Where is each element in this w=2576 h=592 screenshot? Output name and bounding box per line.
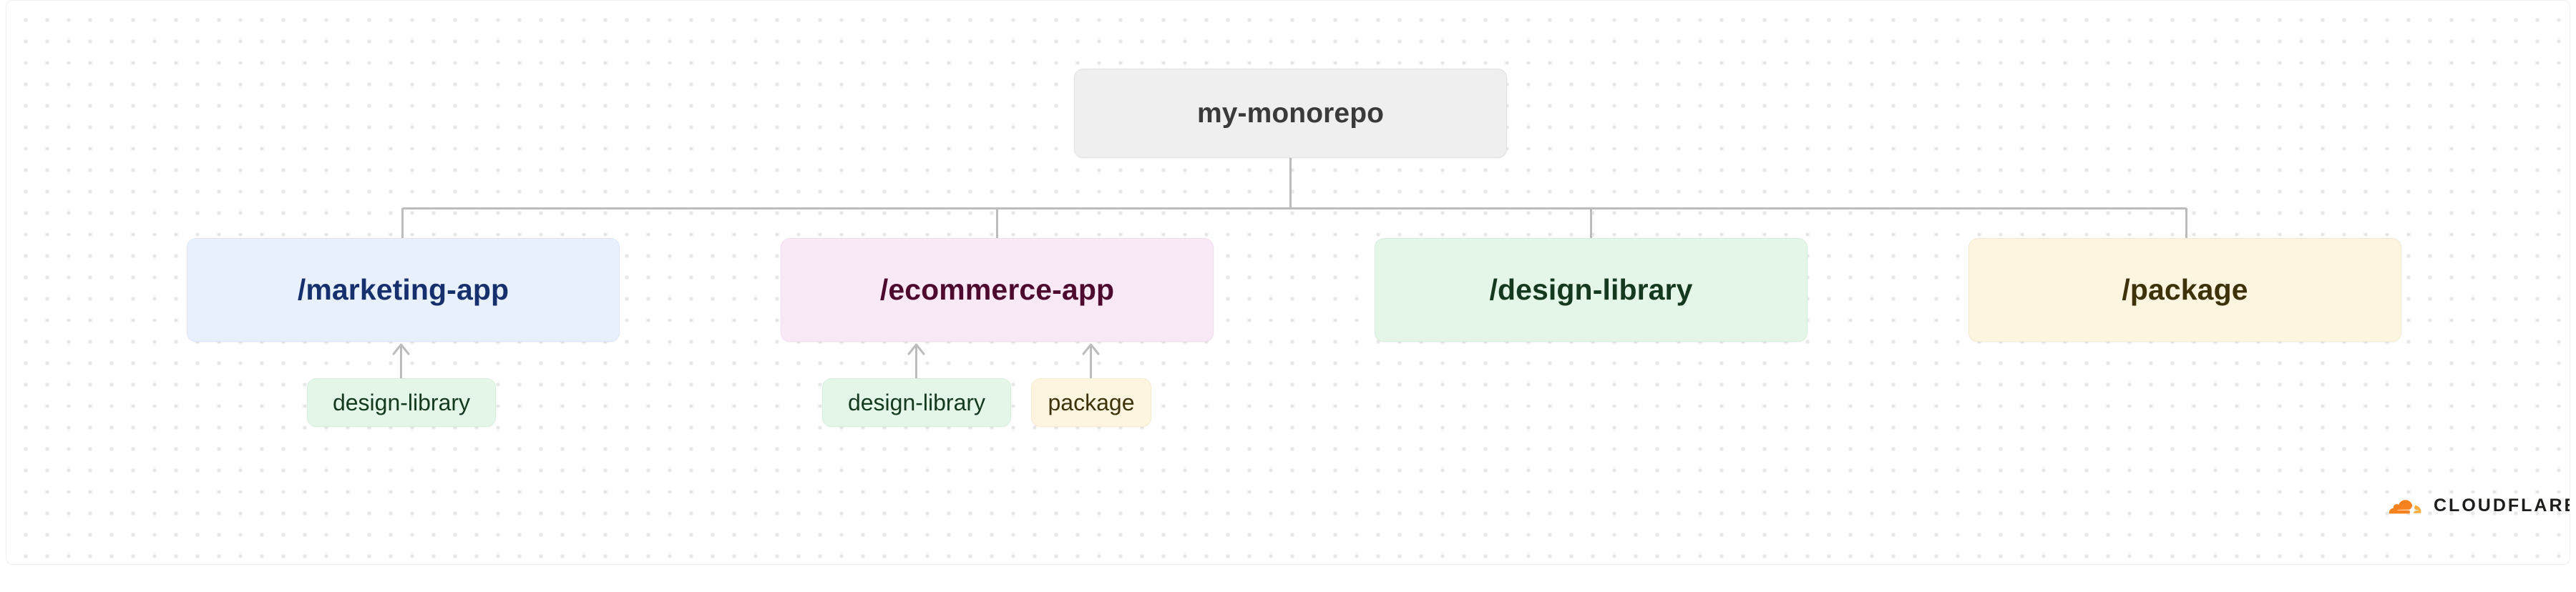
arrowhead-mk-design (394, 345, 409, 354)
arrowhead-ec-design (909, 345, 924, 354)
cloudflare-cloud-icon (2372, 493, 2425, 518)
chip-label: design-library (848, 390, 985, 416)
node-package[interactable]: /package (1968, 238, 2401, 342)
node-marketing-app[interactable]: /marketing-app (187, 238, 620, 342)
arrowhead-ec-package (1083, 345, 1098, 354)
diagram-canvas: my-monorepo /marketing-app /ecommerce-ap… (6, 0, 2570, 565)
chip-label: design-library (333, 390, 470, 416)
node-label: /design-library (1489, 273, 1692, 307)
node-design-library[interactable]: /design-library (1375, 238, 1807, 342)
node-label: my-monorepo (1197, 98, 1384, 129)
dependency-chip-ecommerce-package[interactable]: package (1031, 378, 1151, 427)
chip-label: package (1048, 390, 1135, 416)
cloudflare-logo: CLOUDFLARE (2372, 493, 2570, 518)
cloudflare-wordmark: CLOUDFLARE (2434, 497, 2570, 515)
node-label: /ecommerce-app (880, 273, 1114, 307)
node-ecommerce-app[interactable]: /ecommerce-app (781, 238, 1214, 342)
node-my-monorepo[interactable]: my-monorepo (1074, 69, 1507, 158)
node-label: /package (2122, 273, 2248, 307)
dependency-chip-ecommerce-design-library[interactable]: design-library (822, 378, 1011, 427)
node-label: /marketing-app (298, 273, 509, 307)
dependency-chip-marketing-design-library[interactable]: design-library (307, 378, 496, 427)
